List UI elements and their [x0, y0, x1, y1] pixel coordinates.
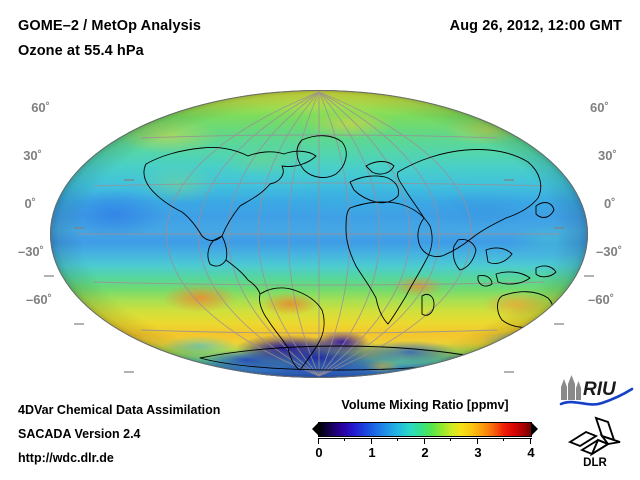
map-panel: 60˚ 30˚ 0˚ –30˚ –60˚ 60˚ 30˚ 0˚ –30˚ –60… [0, 78, 640, 388]
footer-line-version: SACADA Version 2.4 [18, 427, 141, 441]
dlr-logo: DLR [562, 412, 628, 468]
colorbar-extend-max-arrow [531, 422, 538, 436]
colorbar-legend: Volume Mixing Ratio [ppmv] 0 1 2 3 4 [312, 398, 538, 472]
colorbar-tick-4 [530, 438, 531, 444]
riu-logo-text: RIU [583, 379, 617, 400]
page-title: GOME–2 / MetOp Analysis [18, 18, 201, 34]
colorbar-tick-1 [371, 438, 372, 444]
lat-tick-marks [0, 78, 640, 388]
colorbar-tick-minor-3 [503, 438, 504, 441]
colorbar-title: Volume Mixing Ratio [ppmv] [312, 398, 538, 412]
colorbar-label-0: 0 [315, 445, 322, 460]
colorbar-label-3: 3 [474, 445, 481, 460]
colorbar-tick-minor-0 [344, 438, 345, 441]
colorbar-tick-2 [424, 438, 425, 444]
colorbar-axis [318, 438, 532, 444]
colorbar-label-1: 1 [368, 445, 375, 460]
colorbar-tick-minor-1 [397, 438, 398, 441]
colorbar-tick-3 [477, 438, 478, 444]
colorbar-bar-row [312, 420, 538, 440]
riu-logo: RIU [558, 374, 634, 408]
colorbar-tick-labels: 0 1 2 3 4 [318, 445, 532, 463]
colorbar-gradient [318, 422, 532, 437]
datetime-label: Aug 26, 2012, 12:00 GMT [450, 18, 622, 34]
colorbar-label-2: 2 [421, 445, 428, 460]
colorbar-tick-0 [318, 438, 319, 444]
footer-line-method: 4DVar Chemical Data Assimilation [18, 403, 220, 417]
footer-line-url[interactable]: http://wdc.dlr.de [18, 451, 114, 465]
colorbar-axis-line [318, 438, 532, 439]
product-subtitle: Ozone at 55.4 hPa [18, 43, 144, 59]
dlr-logo-text: DLR [583, 457, 607, 468]
colorbar-label-4: 4 [527, 445, 534, 460]
colorbar-tick-minor-2 [450, 438, 451, 441]
